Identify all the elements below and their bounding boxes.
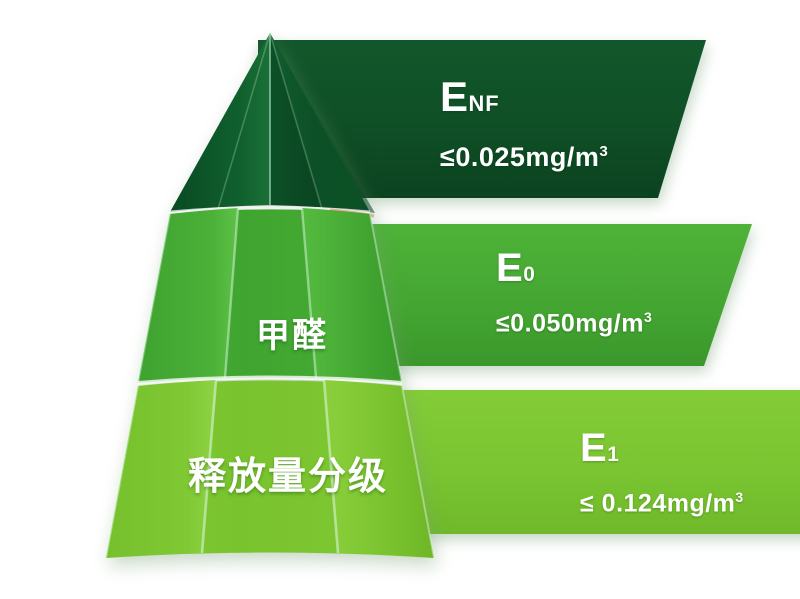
banner-e1-limit-exponent: 3 [735,489,743,505]
banner-e1-text: E1 ≤ 0.124mg/m3 [580,428,744,516]
banner-e1-grade: E1 [580,428,744,468]
banner-e0-limit-exponent: 3 [644,309,652,325]
banner-e1-grade-letter: E [580,426,607,470]
pyramid-tier-middle-label: 甲醛 [256,308,328,357]
banner-e1-limit-value: ≤ 0.124mg/m [580,489,735,517]
banner-enf-limit-exponent: 3 [599,143,608,160]
pyramid-diagram-canvas: ENF ≤0.025mg/m3 E0 ≤0.050mg/m3 [0,0,800,599]
banner-e1-grade-subscript: 1 [607,443,620,466]
pyramid-tier-apex [170,33,375,213]
pyramid-tier-base-label: 释放量分级 [188,445,388,500]
pyramid-graphic: 甲醛 释放量分级 [30,20,550,580]
banner-e1-limit: ≤ 0.124mg/m3 [580,490,744,516]
